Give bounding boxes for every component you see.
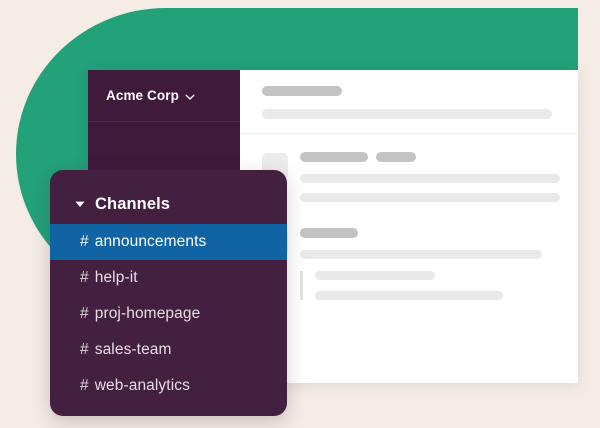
hash-icon: # [80, 269, 89, 287]
channel-item-announcements[interactable]: # announcements [50, 224, 287, 260]
skeleton-text-line [300, 250, 542, 259]
channel-label: help-it [95, 269, 138, 287]
channel-label: sales-team [95, 341, 172, 359]
channel-label: proj-homepage [95, 305, 201, 323]
channel-label: web-analytics [95, 377, 190, 395]
channels-panel: Channels # announcements # help-it # pro… [50, 170, 287, 416]
skeleton-message-meta-row [300, 152, 560, 162]
channel-item-web-analytics[interactable]: # web-analytics [50, 368, 287, 404]
chevron-down-icon[interactable] [185, 92, 194, 101]
skeleton-subtitle-bar [262, 109, 552, 119]
skeleton-message-one [240, 134, 578, 206]
hash-icon: # [80, 233, 89, 251]
skeleton-author-bar [300, 152, 368, 162]
skeleton-quote-line [315, 291, 503, 300]
channels-section-header[interactable]: Channels [50, 184, 287, 224]
channel-item-proj-homepage[interactable]: # proj-homepage [50, 296, 287, 332]
content-skeleton [240, 70, 578, 383]
hash-icon: # [80, 377, 89, 395]
channel-label: announcements [95, 233, 207, 251]
skeleton-quote-block [300, 271, 560, 300]
hash-icon: # [80, 341, 89, 359]
workspace-switcher[interactable]: Acme Corp [88, 70, 240, 122]
caret-down-icon[interactable] [74, 198, 86, 210]
skeleton-text-line [300, 174, 560, 183]
skeleton-quote-line [315, 271, 435, 280]
skeleton-header-block [240, 70, 578, 133]
skeleton-author-bar [300, 228, 358, 238]
skeleton-message-two [240, 206, 578, 304]
screenshot-stage: Acme Corp [0, 0, 600, 428]
channels-header-label: Channels [95, 195, 170, 214]
workspace-name: Acme Corp [106, 88, 179, 103]
channel-item-help-it[interactable]: # help-it [50, 260, 287, 296]
skeleton-text-line [300, 193, 560, 202]
channel-item-sales-team[interactable]: # sales-team [50, 332, 287, 368]
skeleton-title-bar [262, 86, 342, 96]
skeleton-timestamp-bar [376, 152, 416, 162]
hash-icon: # [80, 305, 89, 323]
